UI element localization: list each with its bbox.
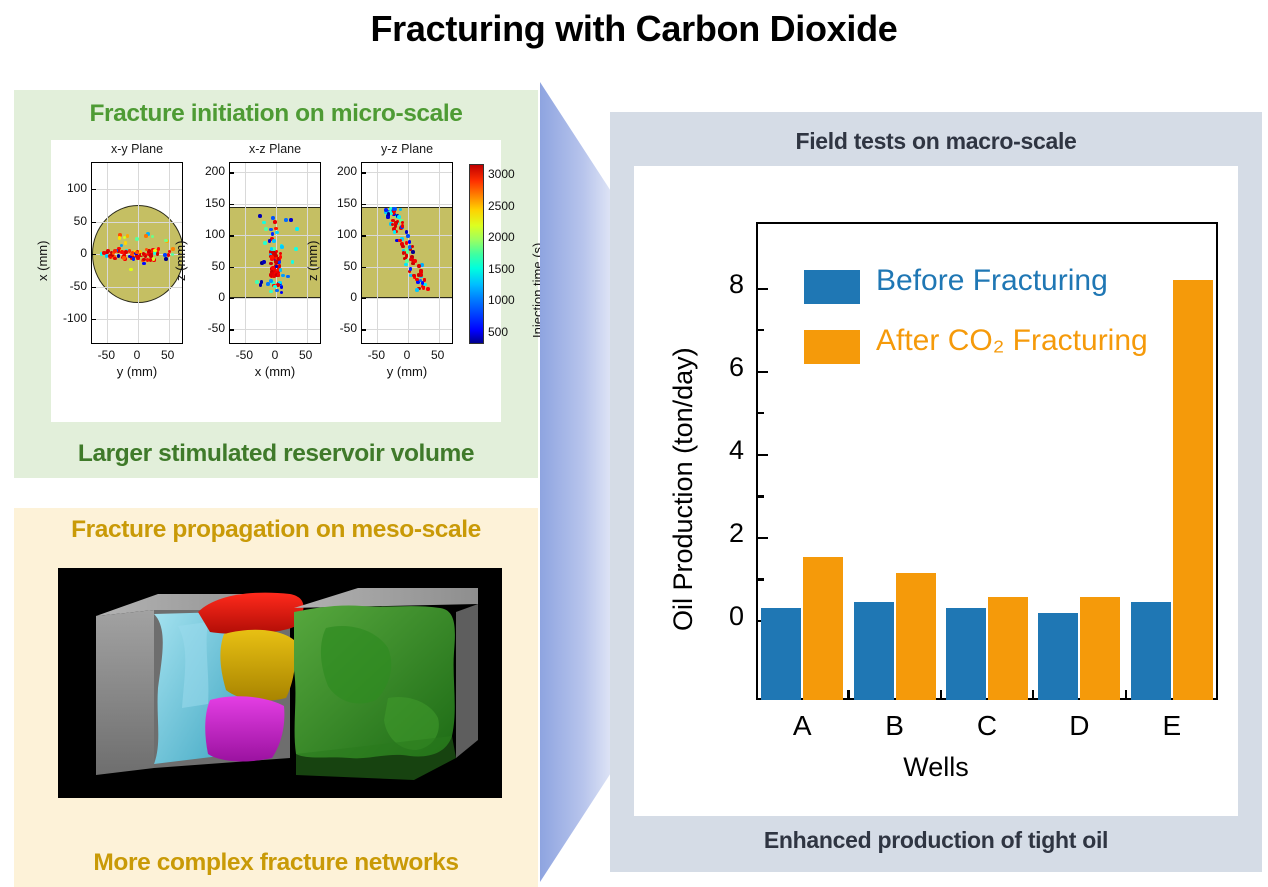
ae-event-point bbox=[417, 264, 421, 268]
x-axis-label: Wells bbox=[634, 752, 1238, 783]
ae-event-point bbox=[426, 287, 430, 291]
x-tick-label: 50 bbox=[286, 348, 326, 362]
bar-D-before bbox=[1038, 613, 1078, 700]
ae-event-point bbox=[262, 260, 266, 264]
y-tick-minor bbox=[756, 578, 764, 580]
legend-label-before: Before Fracturing bbox=[876, 264, 1108, 298]
bar-C-before bbox=[946, 608, 986, 700]
x-axis-label-0: y (mm) bbox=[71, 364, 203, 379]
x-tick-label-A: A bbox=[772, 710, 832, 742]
y-tick-mark bbox=[756, 288, 768, 290]
colorbar-tick-label: 500 bbox=[488, 325, 508, 339]
y-axis-label-0: x (mm) bbox=[35, 241, 50, 281]
ae-event-point bbox=[273, 285, 277, 289]
ae-event-point bbox=[263, 241, 267, 245]
y-axis-label-2: z (mm) bbox=[305, 241, 320, 281]
colorbar-tick-label: 2000 bbox=[488, 230, 515, 244]
bar-B-after bbox=[896, 573, 936, 700]
ae-event-point bbox=[284, 218, 288, 222]
colorbar-tick-label: 2500 bbox=[488, 199, 515, 213]
y-tick bbox=[230, 204, 234, 205]
y-tick-label: 100 bbox=[321, 227, 357, 241]
arrow-shape bbox=[540, 82, 618, 882]
ae-event-point bbox=[272, 239, 276, 243]
x-tick-label: 50 bbox=[418, 348, 458, 362]
x-tick-label-E: E bbox=[1142, 710, 1202, 742]
ae-event-point bbox=[279, 268, 283, 272]
axes-2 bbox=[361, 162, 453, 344]
ae-event-point bbox=[413, 259, 417, 263]
colorbar-tick-label: 1500 bbox=[488, 262, 515, 276]
y-tick-label: 0 bbox=[189, 290, 225, 304]
y-tick bbox=[92, 222, 96, 223]
ae-event-point bbox=[124, 250, 128, 254]
y-tick-label: 0 bbox=[51, 246, 87, 260]
ae-event-point bbox=[397, 215, 401, 219]
y-tick-label: 4 bbox=[700, 437, 744, 464]
y-tick bbox=[230, 298, 234, 299]
y-axis-label: Oil Production (ton/day) bbox=[668, 347, 699, 631]
y-tick-label: 2 bbox=[700, 520, 744, 547]
y-tick bbox=[92, 189, 96, 190]
macro-scale-footer: Enhanced production of tight oil bbox=[610, 827, 1262, 854]
ae-event-point bbox=[268, 239, 272, 243]
ae-event-point bbox=[118, 236, 122, 240]
y-tick-label: 0 bbox=[321, 290, 357, 304]
ae-event-point bbox=[405, 259, 409, 263]
y-tick bbox=[92, 287, 96, 288]
ae-event-point bbox=[262, 221, 266, 225]
ae-event-point bbox=[393, 230, 397, 234]
macro-scale-heading: Field tests on macro-scale bbox=[610, 128, 1262, 155]
ae-event-point bbox=[295, 227, 299, 231]
ae-event-point bbox=[417, 273, 421, 277]
meso-scale-footer: More complex fracture networks bbox=[14, 849, 538, 877]
x-tick-mark bbox=[1125, 690, 1127, 700]
ae-event-point bbox=[135, 251, 139, 255]
y-tick-label: -50 bbox=[51, 279, 87, 293]
x-tick-label: 50 bbox=[148, 348, 188, 362]
meso-scale-panel: Fracture propagation on meso-scale bbox=[14, 508, 538, 887]
y-tick-label: 50 bbox=[189, 259, 225, 273]
x-axis-label-1: x (mm) bbox=[209, 364, 341, 379]
y-tick bbox=[362, 329, 366, 330]
ae-event-point bbox=[392, 207, 396, 211]
y-tick bbox=[362, 235, 366, 236]
bar-A-after bbox=[803, 557, 843, 700]
subplot-title-2: y-z Plane bbox=[339, 142, 475, 156]
ae-event-point bbox=[269, 279, 273, 283]
ae-event-point bbox=[408, 240, 412, 244]
ae-event-point bbox=[164, 257, 168, 261]
y-tick-label: -50 bbox=[189, 321, 225, 335]
macro-scale-panel: Field tests on macro-scale 02468Oil Prod… bbox=[610, 112, 1262, 872]
bar-A-before bbox=[761, 608, 801, 700]
ae-event-point bbox=[411, 250, 415, 254]
y-tick-label: -50 bbox=[321, 321, 357, 335]
ae-event-point bbox=[415, 288, 419, 292]
y-tick-mark bbox=[756, 537, 768, 539]
production-bar-chart: 02468Oil Production (ton/day)ABCDEWellsB… bbox=[634, 166, 1238, 816]
legend-swatch-after bbox=[804, 330, 860, 364]
y-tick bbox=[230, 267, 234, 268]
y-tick bbox=[362, 204, 366, 205]
subplot-title-0: x-y Plane bbox=[69, 142, 205, 156]
y-tick-minor bbox=[756, 412, 764, 414]
y-tick-label: 50 bbox=[321, 259, 357, 273]
ae-event-point bbox=[275, 289, 279, 293]
ae-event-point bbox=[280, 245, 284, 249]
micro-scale-footer: Larger stimulated reservoir volume bbox=[14, 440, 538, 468]
y-tick bbox=[362, 298, 366, 299]
ae-event-point bbox=[275, 231, 279, 235]
y-tick-label: 6 bbox=[700, 354, 744, 381]
x-gridline bbox=[245, 163, 246, 344]
y-tick bbox=[362, 267, 366, 268]
y-tick-minor bbox=[756, 495, 764, 497]
ae-event-point bbox=[401, 245, 405, 249]
ae-event-point bbox=[405, 241, 409, 245]
flow-arrow bbox=[540, 82, 618, 882]
y-tick-label: 8 bbox=[700, 271, 744, 298]
x-tick-label-C: C bbox=[957, 710, 1017, 742]
ae-event-point bbox=[122, 256, 126, 260]
ae-event-point bbox=[273, 220, 277, 224]
ae-event-point bbox=[405, 254, 409, 258]
y-tick-label: 150 bbox=[189, 196, 225, 210]
ae-event-point bbox=[406, 234, 410, 238]
bar-E-before bbox=[1131, 602, 1171, 700]
meso-scale-heading: Fracture propagation on meso-scale bbox=[14, 516, 538, 544]
ae-event-point bbox=[152, 257, 156, 261]
legend-swatch-before bbox=[804, 270, 860, 304]
y-tick bbox=[362, 172, 366, 173]
y-tick bbox=[230, 329, 234, 330]
y-tick-label: 100 bbox=[189, 227, 225, 241]
page-title: Fracturing with Carbon Dioxide bbox=[0, 8, 1268, 50]
y-tick bbox=[92, 319, 96, 320]
ae-event-point bbox=[269, 290, 273, 294]
x-axis-label-2: y (mm) bbox=[341, 364, 473, 379]
y-tick-label: 200 bbox=[321, 164, 357, 178]
ae-event-point bbox=[117, 254, 121, 258]
ae-event-point bbox=[135, 237, 139, 241]
bar-C-after bbox=[988, 597, 1028, 700]
subplot-title-1: x-z Plane bbox=[207, 142, 343, 156]
y-tick-mark bbox=[756, 454, 768, 456]
ae-event-point bbox=[146, 258, 150, 262]
ae-event-point bbox=[273, 252, 277, 256]
y-tick-label: 200 bbox=[189, 164, 225, 178]
bar-B-before bbox=[854, 602, 894, 700]
ae-event-point bbox=[164, 239, 168, 243]
ae-event-point bbox=[144, 234, 148, 238]
ae-event-point bbox=[129, 268, 133, 272]
axes-0 bbox=[91, 162, 183, 344]
micro-scale-heading: Fracture initiation on micro-scale bbox=[14, 100, 538, 128]
bar-D-after bbox=[1080, 597, 1120, 700]
y-tick-label: 0 bbox=[700, 603, 744, 630]
fracture-3d-svg bbox=[58, 568, 502, 798]
colorbar bbox=[469, 164, 484, 344]
y-tick-label: 50 bbox=[51, 214, 87, 228]
micro-scale-panel: Fracture initiation on micro-scale x-y P… bbox=[14, 90, 538, 478]
y-tick-minor bbox=[756, 329, 764, 331]
bar-E-after bbox=[1173, 280, 1213, 700]
x-tick-label-B: B bbox=[865, 710, 925, 742]
y-tick-mark bbox=[756, 371, 768, 373]
ae-event-point bbox=[126, 234, 130, 238]
y-tick bbox=[230, 235, 234, 236]
x-tick-mark bbox=[1032, 690, 1034, 700]
colorbar-tick-label: 1000 bbox=[488, 293, 515, 307]
x-tick-mark bbox=[847, 690, 849, 700]
ae-event-point bbox=[102, 251, 106, 255]
ae-event-point bbox=[271, 266, 275, 270]
y-tick-label: 150 bbox=[321, 196, 357, 210]
fracture-network-render bbox=[58, 568, 502, 798]
ae-event-point bbox=[394, 224, 398, 228]
x-tick-mark bbox=[940, 690, 942, 700]
ae-event-point bbox=[269, 228, 273, 232]
x-gridline bbox=[439, 163, 440, 344]
ae-event-point bbox=[142, 252, 146, 256]
legend-label-after: After CO₂ Fracturing bbox=[876, 324, 1148, 358]
y-tick-label: 100 bbox=[51, 181, 87, 195]
ae-event-point bbox=[113, 249, 117, 253]
x-gridline bbox=[377, 163, 378, 344]
ae-event-point bbox=[294, 247, 298, 251]
ae-event-point bbox=[276, 283, 280, 287]
ae-event-point bbox=[274, 260, 278, 264]
ae-event-point bbox=[404, 263, 408, 267]
graphical-abstract: Fracturing with Carbon Dioxide Fracture … bbox=[0, 0, 1268, 887]
micro-scale-figure: x-y Plane100500-50-100-50050y (mm)x (mm)… bbox=[51, 140, 501, 422]
y-axis-label-1: z (mm) bbox=[173, 241, 188, 281]
y-tick bbox=[92, 254, 96, 255]
ae-event-point bbox=[258, 214, 262, 218]
y-tick-label: -100 bbox=[51, 311, 87, 325]
colorbar-tick-label: 3000 bbox=[488, 167, 515, 181]
y-tick bbox=[230, 172, 234, 173]
x-tick-label-D: D bbox=[1049, 710, 1109, 742]
